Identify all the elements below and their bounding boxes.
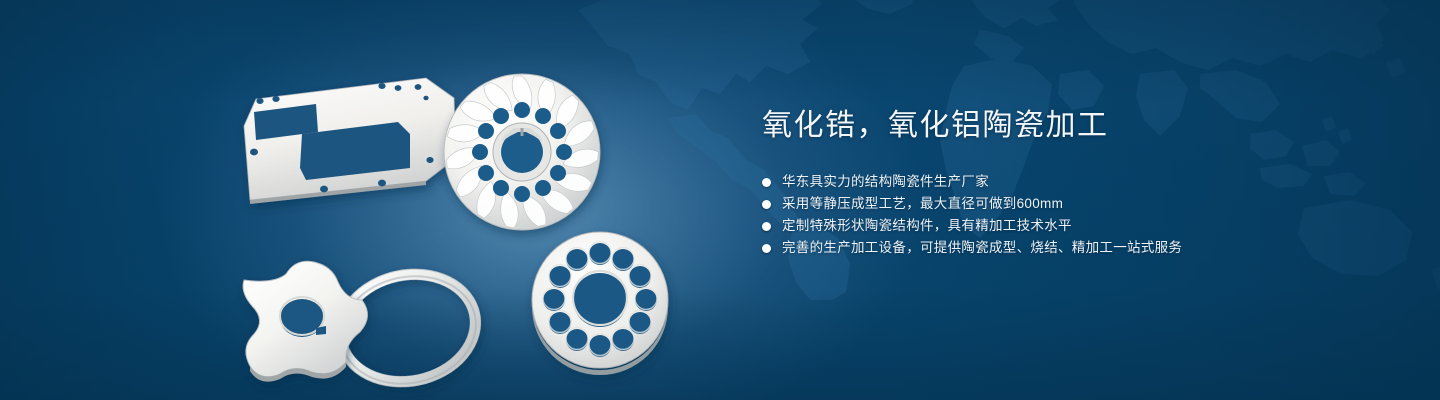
list-item: 完善的生产加工设备，可提供陶瓷成型、烧结、精加工一站式服务 [762, 237, 1322, 259]
ceramic-impeller [444, 74, 600, 230]
feature-list: 华东具实力的结构陶瓷件生产厂家 采用等静压成型工艺，最大直径可做到600mm 定… [762, 171, 1322, 259]
feature-text: 完善的生产加工设备，可提供陶瓷成型、烧结、精加工一站式服务 [782, 237, 1182, 259]
bullet-dot-icon [762, 178, 771, 187]
feature-text: 定制特殊形状陶瓷结构件，具有精加工技术水平 [782, 215, 1072, 237]
page-title: 氧化锆，氧化铝陶瓷加工 [762, 108, 1322, 143]
banner-copy: 氧化锆，氧化铝陶瓷加工 华东具实力的结构陶瓷件生产厂家 采用等静压成型工艺，最大… [762, 108, 1322, 259]
list-item: 华东具实力的结构陶瓷件生产厂家 [762, 171, 1322, 193]
list-item: 采用等静压成型工艺，最大直径可做到600mm [762, 193, 1322, 215]
feature-text: 采用等静压成型工艺，最大直径可做到600mm [782, 193, 1063, 215]
ceramic-products-group [230, 40, 730, 380]
list-item: 定制特殊形状陶瓷结构件，具有精加工技术水平 [762, 215, 1322, 237]
feature-text: 华东具实力的结构陶瓷件生产厂家 [782, 171, 989, 193]
ceramic-processing-banner: 氧化锆，氧化铝陶瓷加工 华东具实力的结构陶瓷件生产厂家 采用等静压成型工艺，最大… [0, 0, 1440, 400]
ceramic-hole-disc [532, 232, 668, 375]
bullet-dot-icon [762, 244, 771, 253]
ceramic-plate [244, 78, 456, 204]
bullet-dot-icon [762, 222, 771, 231]
bullet-dot-icon [762, 200, 771, 209]
